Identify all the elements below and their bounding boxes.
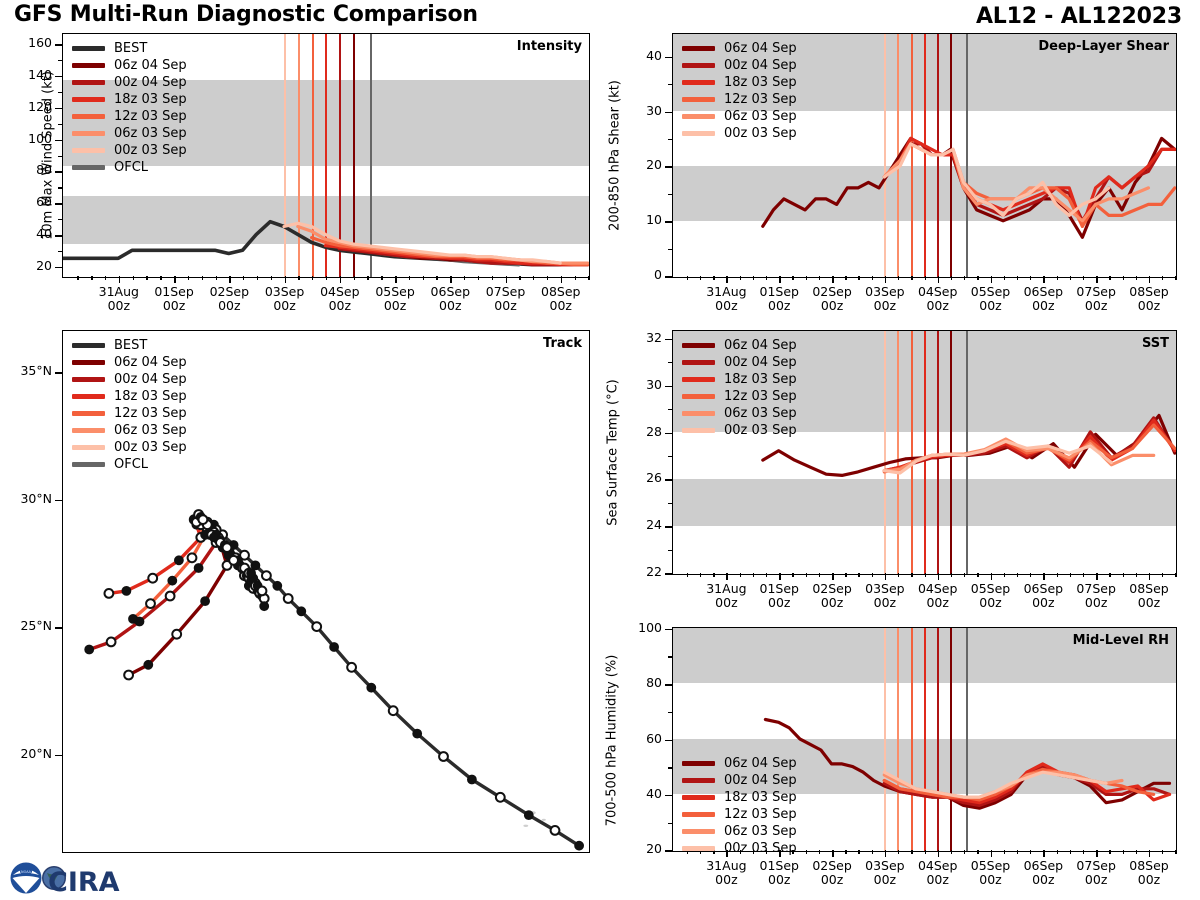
y-ticklabel: 22 (614, 564, 662, 579)
legend-row[interactable]: 12z 03 Sep (682, 388, 797, 405)
x-minor-tick (872, 573, 873, 577)
legend-label: 06z 04 Sep (724, 337, 797, 354)
x-tickmark (885, 850, 887, 857)
legend-row[interactable]: BEST (72, 40, 187, 57)
legend-row[interactable]: 06z 04 Sep (682, 40, 797, 57)
y-ticklabel: 100 (4, 131, 52, 146)
x-minor-tick (575, 276, 576, 280)
noaa-seagull-icon: NOAA (11, 863, 42, 894)
legend-row[interactable]: 06z 03 Sep (72, 125, 187, 142)
x-minor-tick (1004, 276, 1005, 280)
track-marker-filled (247, 569, 256, 578)
x-minor-tick (312, 276, 313, 280)
legend-row[interactable]: OFCL (72, 456, 187, 473)
y-minor-tick (668, 84, 673, 85)
x-minor-tick (858, 573, 859, 577)
x-minor-tick (951, 573, 952, 577)
legend-label: 00z 04 Sep (724, 57, 797, 74)
track-marker-open (105, 589, 114, 598)
track-marker-open (496, 793, 505, 802)
x-tickmark (832, 850, 834, 857)
x-minor-tick (872, 850, 873, 854)
y-tickmark (665, 433, 673, 435)
legend-swatch (682, 377, 715, 382)
legend-label: 00z 04 Sep (724, 354, 797, 371)
x-minor-tick (819, 276, 820, 280)
track-marker-open (229, 556, 238, 565)
legend-swatch (682, 812, 715, 817)
track-marker-open (166, 592, 175, 601)
legend-row[interactable]: 06z 03 Sep (72, 422, 187, 439)
legend-row[interactable]: 00z 04 Sep (682, 772, 797, 789)
legend-label: 12z 03 Sep (724, 388, 797, 405)
x-minor-tick (819, 573, 820, 577)
legend-swatch (682, 97, 715, 102)
legend-swatch (72, 343, 105, 348)
y-minor-tick (668, 550, 673, 551)
x-minor-tick (519, 276, 520, 280)
track-marker-filled (575, 841, 584, 850)
track-marker-filled (175, 556, 184, 565)
y-minor-tick (58, 187, 63, 188)
legend-row[interactable]: 18z 03 Sep (682, 789, 797, 806)
sst-legend: 06z 04 Sep 00z 04 Sep 18z 03 Sep 12z 03 … (682, 337, 797, 439)
legend-row[interactable]: 18z 03 Sep (72, 388, 187, 405)
legend-swatch (682, 846, 715, 851)
legend-row[interactable]: 06z 03 Sep (682, 108, 797, 125)
y-tickmark (665, 339, 673, 341)
legend-row[interactable]: 06z 03 Sep (682, 405, 797, 422)
x-minor-tick (766, 276, 767, 280)
y-tickmark (665, 221, 673, 223)
intensity-legend: BEST 06z 04 Sep 00z 04 Sep 18z 03 Sep 12… (72, 40, 187, 176)
x-minor-tick (1109, 276, 1110, 280)
legend-swatch (682, 343, 715, 348)
legend-label: 00z 04 Sep (114, 371, 187, 388)
y-minor-tick (58, 124, 63, 125)
y-minor-tick (668, 767, 673, 768)
legend-label: OFCL (114, 456, 148, 473)
legend-label: 06z 03 Sep (114, 125, 187, 142)
x-minor-tick (1017, 276, 1018, 280)
storm-id-label: AL12 - AL122023 (976, 4, 1182, 29)
legend-label: 00z 04 Sep (114, 74, 187, 91)
x-minor-tick (753, 573, 754, 577)
x-ticklabel: 08Sep00z (1107, 285, 1191, 313)
y-tickmark (55, 235, 63, 237)
track-marker-open (148, 574, 157, 583)
y-ticklabel: 40 (614, 48, 662, 63)
lat-ticklabel: 30°N (4, 491, 52, 506)
x-minor-tick (792, 573, 793, 577)
legend-label: BEST (114, 40, 147, 57)
x-minor-tick (492, 276, 493, 280)
x-tickmark (1149, 573, 1151, 580)
x-minor-tick (1004, 850, 1005, 854)
legend-label: 06z 03 Sep (724, 108, 797, 125)
legend-swatch (682, 829, 715, 834)
lat-ticklabel: 20°N (4, 746, 52, 761)
lat-ticklabel: 35°N (4, 363, 52, 378)
svg-text:NOAA: NOAA (21, 870, 32, 874)
track-marker-open (107, 638, 116, 647)
y-tickmark (665, 573, 673, 575)
y-ticklabel: 30 (614, 377, 662, 392)
track-marker-open (439, 752, 448, 761)
x-minor-tick (146, 276, 147, 280)
legend-row[interactable]: 12z 03 Sep (682, 806, 797, 823)
rh-title: Mid-Level RH (1073, 633, 1169, 648)
x-minor-tick (133, 276, 134, 280)
legend-label: 18z 03 Sep (724, 789, 797, 806)
legend-label: 12z 03 Sep (724, 91, 797, 108)
y-tickmark (665, 276, 673, 278)
x-minor-tick (423, 276, 424, 280)
x-minor-tick (925, 276, 926, 280)
legend-row[interactable]: 06z 04 Sep (682, 755, 797, 772)
track-marker-filled (468, 775, 477, 784)
x-minor-tick (409, 276, 410, 280)
x-minor-tick (925, 850, 926, 854)
y-ticklabel: 60 (4, 194, 52, 209)
legend-label: 18z 03 Sep (724, 74, 797, 91)
legend-row[interactable]: 12z 03 Sep (682, 91, 797, 108)
x-minor-tick (951, 850, 952, 854)
x-tickmark (395, 276, 397, 283)
y-ticklabel: 20 (4, 258, 52, 273)
legend-row[interactable]: 06z 04 Sep (72, 354, 187, 371)
x-tickmark (885, 573, 887, 580)
y-tickmark (665, 57, 673, 59)
track-legend: BEST 06z 04 Sep 00z 04 Sep 18z 03 Sep 12… (72, 337, 187, 473)
legend-row[interactable]: 00z 03 Sep (682, 125, 797, 142)
legend-label: 00z 04 Sep (724, 772, 797, 789)
track-marker-open (347, 663, 356, 672)
x-minor-tick (872, 276, 873, 280)
x-minor-tick (977, 573, 978, 577)
y-tickmark (665, 526, 673, 528)
track-marker-filled (210, 533, 219, 542)
x-minor-tick (1004, 573, 1005, 577)
x-minor-tick (806, 850, 807, 854)
x-ticklabel: 08Sep00z (519, 285, 603, 313)
y-minor-tick (58, 156, 63, 157)
legend-swatch (72, 445, 105, 450)
x-tickmark (991, 276, 993, 283)
legend-row[interactable]: 12z 03 Sep (72, 405, 187, 422)
x-tickmark (1096, 573, 1098, 580)
y-ticklabel: 140 (4, 67, 52, 82)
x-minor-tick (1136, 276, 1137, 280)
track-title: Track (543, 336, 582, 351)
cira-wordmark: CIRA (42, 866, 120, 898)
x-minor-tick (1057, 850, 1058, 854)
legend-swatch (72, 63, 105, 68)
x-minor-tick (740, 573, 741, 577)
y-tickmark (55, 140, 63, 142)
legend-row[interactable]: 00z 03 Sep (682, 840, 797, 857)
x-minor-tick (1162, 276, 1163, 280)
x-minor-tick (1083, 573, 1084, 577)
track-marker-open (146, 599, 155, 608)
y-tickmark (55, 44, 63, 46)
x-tickmark (779, 276, 781, 283)
x-tickmark (991, 573, 993, 580)
legend-row[interactable]: 18z 03 Sep (682, 371, 797, 388)
legend-row[interactable]: 18z 03 Sep (682, 74, 797, 91)
track-marker-filled (367, 683, 376, 692)
x-minor-tick (1057, 573, 1058, 577)
y-tickmark (55, 76, 63, 78)
y-tickmark (665, 684, 673, 686)
x-tickmark (832, 276, 834, 283)
x-minor-tick (925, 573, 926, 577)
y-ticklabel: 80 (614, 675, 662, 690)
legend-swatch (72, 97, 105, 102)
x-minor-tick (977, 850, 978, 854)
y-ticklabel: 20 (614, 841, 662, 856)
y-ticklabel: 32 (614, 330, 662, 345)
x-minor-tick (1123, 850, 1124, 854)
x-minor-tick (964, 850, 965, 854)
y-ticklabel: 40 (4, 226, 52, 241)
legend-swatch (682, 46, 715, 51)
legend-swatch (682, 114, 715, 119)
x-minor-tick (819, 850, 820, 854)
track-marker-filled (168, 576, 177, 585)
intensity-title: Intensity (517, 39, 582, 54)
x-minor-tick (700, 276, 701, 280)
legend-swatch (72, 428, 105, 433)
x-minor-tick (1083, 276, 1084, 280)
legend-swatch (72, 462, 105, 467)
x-minor-tick (951, 276, 952, 280)
x-minor-tick (1017, 573, 1018, 577)
track-marker-filled (260, 602, 269, 611)
x-minor-tick (1109, 850, 1110, 854)
x-tickmark (1149, 850, 1151, 857)
legend-row[interactable]: OFCL (72, 159, 187, 176)
track-marker-filled (122, 587, 131, 596)
legend-swatch (682, 761, 715, 766)
legend-swatch (682, 131, 715, 136)
y-ticklabel: 26 (614, 470, 662, 485)
legend-label: 00z 03 Sep (114, 142, 187, 159)
legend-label: 00z 03 Sep (114, 439, 187, 456)
x-minor-tick (1083, 850, 1084, 854)
x-minor-tick (911, 573, 912, 577)
legend-swatch (682, 80, 715, 85)
legend-label: 12z 03 Sep (114, 108, 187, 125)
x-minor-tick (1070, 573, 1071, 577)
legend-label: 06z 04 Sep (724, 755, 797, 772)
track-marker-open (551, 826, 560, 835)
x-tickmark (938, 573, 940, 580)
legend-label: 00z 03 Sep (724, 422, 797, 439)
legend-row[interactable]: BEST (72, 337, 187, 354)
legend-swatch (682, 394, 715, 399)
y-tickmark (665, 629, 673, 631)
y-ticklabel: 120 (4, 99, 52, 114)
track-marker-open (124, 671, 133, 680)
track-marker-open (284, 594, 293, 603)
x-tickmark (285, 276, 287, 283)
x-minor-tick (1123, 276, 1124, 280)
legend-row[interactable]: 00z 04 Sep (682, 57, 797, 74)
track-marker-filled (194, 564, 203, 573)
x-minor-tick (381, 276, 382, 280)
legend-swatch (72, 360, 105, 365)
page-title: GFS Multi-Run Diagnostic Comparison (14, 2, 478, 27)
y-minor-tick (668, 249, 673, 250)
y-minor-tick (668, 503, 673, 504)
legend-swatch (72, 131, 105, 136)
x-minor-tick (1175, 850, 1176, 854)
legend-row[interactable]: 06z 04 Sep (682, 337, 797, 354)
track-marker-open (258, 587, 267, 596)
rh-legend: 06z 04 Sep 00z 04 Sep 18z 03 Sep 12z 03 … (682, 755, 797, 857)
legend-label: BEST (114, 337, 147, 354)
y-ticklabel: 160 (4, 35, 52, 50)
y-minor-tick (668, 362, 673, 363)
shear-ylabel: 200-850 hPa Shear (kt) (608, 36, 623, 276)
legend-swatch (682, 428, 715, 433)
x-minor-tick (1136, 850, 1137, 854)
y-ticklabel: 60 (614, 731, 662, 746)
legend-swatch (682, 795, 715, 800)
x-minor-tick (1030, 850, 1031, 854)
x-minor-tick (700, 573, 701, 577)
x-tickmark (885, 276, 887, 283)
legend-row[interactable]: 12z 03 Sep (72, 108, 187, 125)
sst-title: SST (1142, 336, 1169, 351)
x-tickmark (450, 276, 452, 283)
lat-tickmark (55, 500, 63, 502)
x-minor-tick (1162, 573, 1163, 577)
x-minor-tick (105, 276, 106, 280)
lat-tickmark (55, 755, 63, 757)
x-minor-tick (202, 276, 203, 280)
y-tickmark (665, 740, 673, 742)
lat-tickmark (55, 627, 63, 629)
y-ticklabel: 100 (614, 620, 662, 635)
x-minor-tick (713, 573, 714, 577)
x-minor-tick (898, 850, 899, 854)
diagnostic-page: GFS Multi-Run Diagnostic Comparison AL12… (0, 0, 1200, 900)
legend-label: 06z 03 Sep (114, 422, 187, 439)
y-tickmark (665, 850, 673, 852)
legend-label: 18z 03 Sep (724, 371, 797, 388)
x-minor-tick (713, 276, 714, 280)
legend-swatch (72, 114, 105, 119)
legend-row[interactable]: 00z 03 Sep (682, 422, 797, 439)
x-minor-tick (1175, 276, 1176, 280)
x-minor-tick (91, 276, 92, 280)
x-tickmark (1096, 850, 1098, 857)
x-minor-tick (588, 276, 589, 280)
y-ticklabel: 20 (614, 157, 662, 172)
x-minor-tick (806, 573, 807, 577)
track-marker-open (262, 571, 271, 580)
track-marker-open (172, 630, 181, 639)
y-ticklabel: 0 (614, 267, 662, 282)
legend-label: 12z 03 Sep (724, 806, 797, 823)
x-minor-tick (1030, 276, 1031, 280)
y-ticklabel: 28 (614, 424, 662, 439)
legend-row[interactable]: 00z 03 Sep (72, 142, 187, 159)
legend-row[interactable]: 00z 04 Sep (72, 371, 187, 388)
y-minor-tick (668, 194, 673, 195)
x-tickmark (726, 276, 728, 283)
x-minor-tick (1136, 573, 1137, 577)
x-minor-tick (533, 276, 534, 280)
y-tickmark (55, 203, 63, 205)
legend-row[interactable]: 06z 04 Sep (72, 57, 187, 74)
x-minor-tick (753, 276, 754, 280)
y-minor-tick (668, 456, 673, 457)
legend-row[interactable]: 00z 04 Sep (682, 354, 797, 371)
y-minor-tick (668, 139, 673, 140)
y-tickmark (665, 112, 673, 114)
x-minor-tick (354, 276, 355, 280)
legend-label: 06z 04 Sep (114, 57, 187, 74)
x-minor-tick (547, 276, 548, 280)
legend-swatch (682, 360, 715, 365)
track-marker-open (389, 706, 398, 715)
x-minor-tick (766, 573, 767, 577)
x-minor-tick (964, 276, 965, 280)
x-minor-tick (845, 276, 846, 280)
track-marker-open (188, 553, 197, 562)
x-tickmark (1043, 276, 1045, 283)
track-marker-open (312, 622, 321, 631)
x-minor-tick (1123, 573, 1124, 577)
track-marker-filled (201, 597, 210, 606)
x-minor-tick (271, 276, 272, 280)
y-ticklabel: 40 (614, 786, 662, 801)
y-minor-tick (58, 92, 63, 93)
x-minor-tick (188, 276, 189, 280)
y-tickmark (665, 479, 673, 481)
x-minor-tick (216, 276, 217, 280)
legend-swatch (682, 778, 715, 783)
track-marker-filled (129, 615, 138, 624)
x-minor-tick (911, 276, 912, 280)
y-tickmark (55, 267, 63, 269)
legend-label: 12z 03 Sep (114, 405, 187, 422)
y-tickmark (55, 108, 63, 110)
x-tickmark (229, 276, 231, 283)
x-minor-tick (845, 573, 846, 577)
legend-swatch (682, 411, 715, 416)
legend-label: OFCL (114, 159, 148, 176)
x-tickmark (991, 850, 993, 857)
x-minor-tick (911, 850, 912, 854)
x-tickmark (726, 573, 728, 580)
x-minor-tick (898, 573, 899, 577)
legend-label: 06z 04 Sep (114, 354, 187, 371)
legend-row[interactable]: 18z 03 Sep (72, 91, 187, 108)
x-tickmark (938, 850, 940, 857)
y-ticklabel: 30 (614, 103, 662, 118)
legend-row[interactable]: 00z 03 Sep (72, 439, 187, 456)
x-minor-tick (367, 276, 368, 280)
x-minor-tick (858, 850, 859, 854)
noaa-cira-logo: NOAA CIRA (8, 862, 158, 898)
legend-row[interactable]: 06z 03 Sep (682, 823, 797, 840)
y-minor-tick (58, 60, 63, 61)
legend-row[interactable]: 00z 04 Sep (72, 74, 187, 91)
